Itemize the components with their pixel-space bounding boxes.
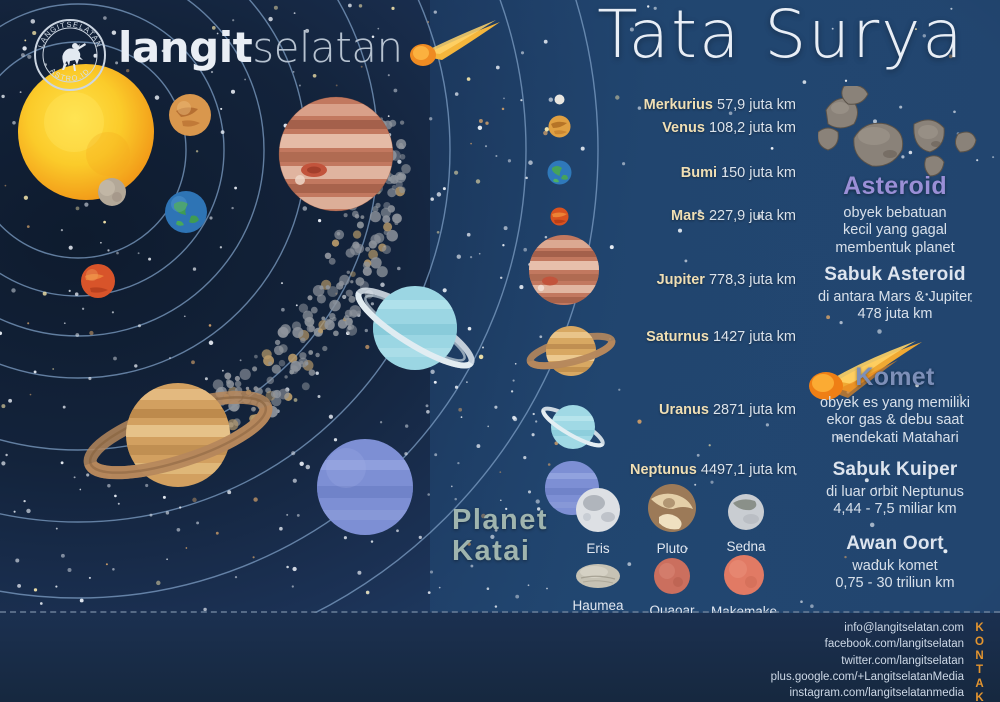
dwarf-name-pluto: Pluto — [634, 541, 710, 556]
quaoar-icon — [653, 557, 691, 595]
asteroid-desc-line1: obyek bebatuan — [795, 205, 995, 222]
planet-distance-uranus: 2871 juta km — [713, 402, 796, 418]
planet-name-uranus: Uranus — [659, 402, 709, 418]
brand-bold: langit — [118, 23, 252, 72]
saturn-icon — [526, 314, 616, 388]
dwarf-planet-quaoar: Quaoar — [634, 557, 710, 618]
dwarf-planet-eris: Eris — [560, 487, 636, 556]
page-title: Tata Surya — [566, 2, 996, 68]
oort-heading: Awan Oort — [795, 533, 995, 555]
planet-name-jupiter: Jupiter — [657, 272, 705, 288]
planet-name-neptunus: Neptunus — [630, 462, 697, 478]
dwarf-planet-sedna: Sedna — [708, 493, 784, 554]
komet-desc-line2: ekor gas & debu saat — [795, 412, 995, 429]
dwarf-planet-pluto: Pluto — [634, 483, 710, 556]
planet-name-saturnus: Saturnus — [646, 329, 709, 345]
earth-body — [164, 190, 208, 234]
komet-info-block: Komet obyek es yang memiliki ekor gas & … — [795, 363, 995, 447]
asteroid-desc-line2: kecil yang gagal — [795, 222, 995, 239]
brand-light: selatan — [252, 23, 402, 72]
venus-icon — [548, 115, 571, 138]
asteroid-belt-line1: di antara Mars & Jupiter — [795, 289, 995, 306]
dwarf-label-line2: Katai — [452, 536, 562, 567]
langitselatan-logo: LANGITSELATAN ASTRO.ID — [33, 18, 107, 92]
contact-googleplus[interactable]: plus.google.com/+LangitselatanMedia — [664, 669, 964, 685]
jupiter-body — [278, 96, 394, 212]
neptune-body — [316, 438, 414, 536]
contact-list: info@langitselatan.com facebook.com/lang… — [664, 620, 964, 702]
infographic-canvas: Tata Surya Merkurius 57,9 juta km Venus … — [0, 0, 1000, 702]
mercury-body — [97, 177, 127, 207]
makemake-icon — [723, 554, 765, 596]
earth-icon — [547, 160, 572, 185]
pluto-icon — [647, 483, 697, 533]
kuiper-line2: 4,44 - 7,5 miliar km — [795, 501, 995, 518]
dwarf-planet-haumea: Haumea — [560, 562, 636, 613]
kuiper-heading: Sabuk Kuiper — [795, 459, 995, 481]
asteroid-cluster-art — [818, 86, 994, 178]
mars-icon — [550, 207, 569, 226]
planet-name-mercury: Merkurius — [644, 97, 713, 113]
contact-email[interactable]: info@langitselatan.com — [664, 620, 964, 636]
venus-body — [168, 93, 212, 137]
uranus-body — [340, 258, 490, 398]
kuiper-belt-block: Sabuk Kuiper di luar orbit Neptunus 4,44… — [795, 459, 995, 519]
kuiper-line1: di luar orbit Neptunus — [795, 484, 995, 501]
jupiter-icon — [528, 234, 600, 306]
dwarf-planets-label: Planet Katai — [452, 505, 562, 568]
planet-distance-bumi: 150 juta km — [721, 165, 796, 181]
planet-distance-neptunus: 4497,1 juta km — [701, 462, 796, 478]
haumea-icon — [575, 562, 621, 590]
oort-cloud-block: Awan Oort waduk komet 0,75 - 30 triliun … — [795, 533, 995, 593]
dwarf-name-sedna: Sedna — [708, 539, 784, 554]
eris-icon — [575, 487, 621, 533]
asteroid-belt-block: Sabuk Asteroid di antara Mars & Jupiter … — [795, 264, 995, 324]
oort-line1: waduk komet — [795, 558, 995, 575]
planet-name-venus: Venus — [662, 120, 705, 136]
footer-divider — [0, 611, 1000, 613]
planet-distance-saturnus: 1427 juta km — [713, 329, 796, 345]
svg-text:ASTRO.ID: ASTRO.ID — [48, 66, 92, 83]
planet-distance-mercury: 57,9 juta km — [717, 97, 796, 113]
asteroid-info-block: Asteroid obyek bebatuan kecil yang gagal… — [795, 172, 995, 257]
planet-distance-venus: 108,2 juta km — [709, 120, 796, 136]
planet-distance-mars: 227,9 juta km — [709, 208, 796, 224]
kontak-vertical-label: KONTAK — [973, 621, 987, 702]
planet-name-bumi: Bumi — [681, 165, 717, 181]
asteroid-belt-line2: 478 juta km — [795, 306, 995, 323]
saturn-body — [78, 355, 278, 515]
dwarf-planet-makemake: Makemake — [706, 554, 782, 619]
sedna-icon — [727, 493, 765, 531]
komet-heading: Komet — [795, 363, 995, 392]
komet-desc-line3: mendekati Matahari — [795, 430, 995, 447]
brand-wordmark: langitselatan — [118, 27, 403, 69]
asteroid-heading: Asteroid — [795, 172, 995, 201]
mars-body — [80, 263, 116, 299]
comet-body — [408, 14, 504, 70]
dwarf-label-line1: Planet — [452, 505, 562, 536]
mercury-icon — [554, 94, 565, 105]
komet-desc-line1: obyek es yang memiliki — [795, 395, 995, 412]
contact-instagram[interactable]: instagram.com/langitselatanmedia — [664, 685, 964, 701]
planet-name-mars: Mars — [671, 208, 705, 224]
uranus-icon — [534, 394, 612, 460]
dwarf-name-eris: Eris — [560, 541, 636, 556]
asteroid-desc-line3: membentuk planet — [795, 240, 995, 257]
planet-distance-jupiter: 778,3 juta km — [709, 272, 796, 288]
asteroid-belt-heading: Sabuk Asteroid — [795, 264, 995, 286]
contact-facebook[interactable]: facebook.com/langitselatan — [664, 636, 964, 652]
contact-twitter[interactable]: twitter.com/langitselatan — [664, 653, 964, 669]
oort-line2: 0,75 - 30 triliun km — [795, 575, 995, 592]
